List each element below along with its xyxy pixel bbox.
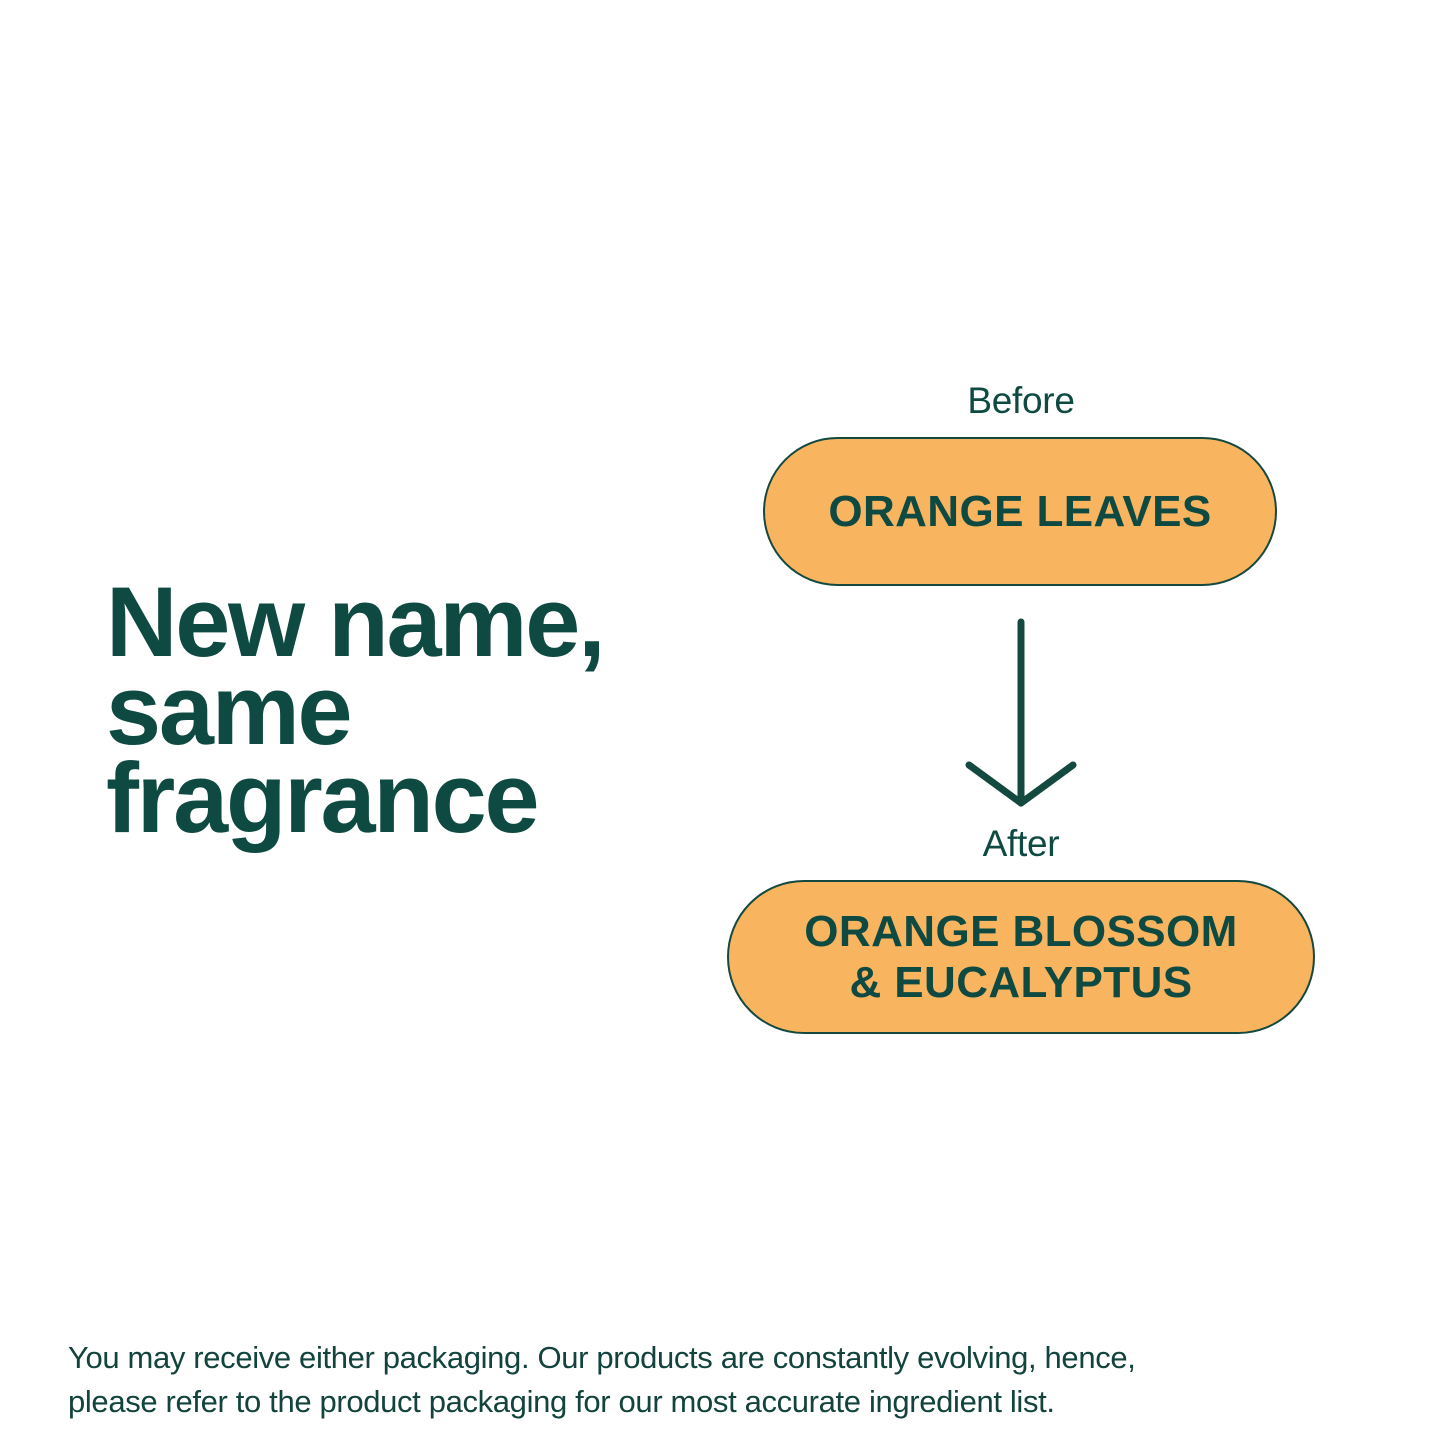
rename-flow-diagram: Before ORANGE LEAVES After ORANGE BLOSSO… [690, 370, 1352, 1050]
before-product-name-pill: ORANGE LEAVES [763, 437, 1277, 586]
after-product-name-pill: ORANGE BLOSSOM & EUCALYPTUS [727, 880, 1315, 1034]
arrow-down-icon [690, 610, 1352, 810]
promo-card: New name, same fragrance Before ORANGE L… [0, 0, 1445, 1445]
packaging-disclaimer: You may receive either packaging. Our pr… [68, 1336, 1358, 1424]
after-label: After [690, 822, 1352, 866]
before-label: Before [690, 379, 1352, 423]
page-title: New name, same fragrance [106, 578, 726, 842]
